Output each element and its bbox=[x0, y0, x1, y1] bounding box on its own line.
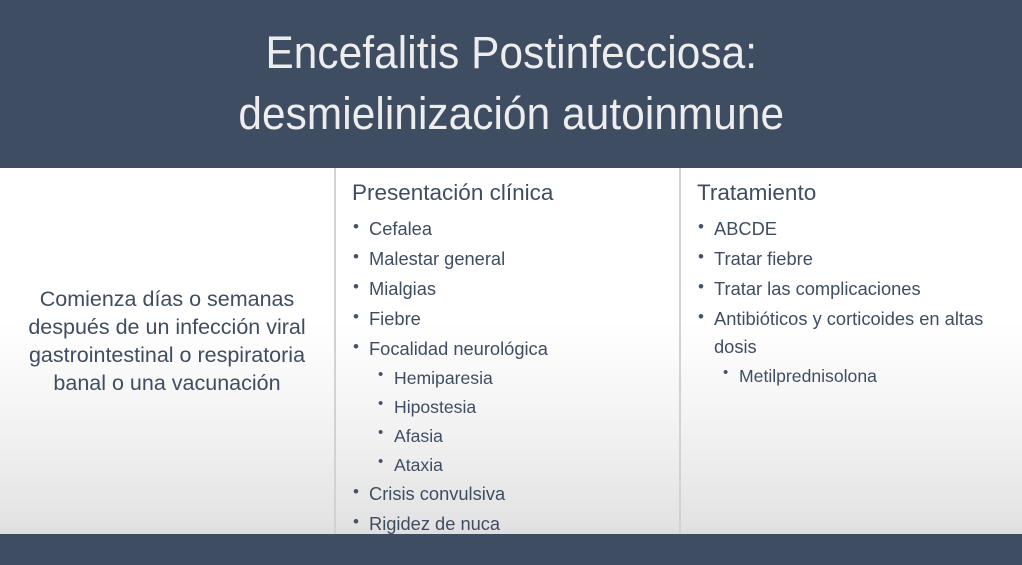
list-item: Focalidad neurológica bbox=[350, 335, 669, 363]
list-item-sub: Afasia bbox=[350, 423, 669, 450]
list-item-sub: Ataxia bbox=[350, 452, 669, 479]
list-item: Tratar fiebre bbox=[695, 245, 1016, 273]
column-heading-treatment: Tratamiento bbox=[695, 180, 1016, 206]
list-item: Fiebre bbox=[350, 305, 669, 333]
list-item: Cefalea bbox=[350, 215, 669, 243]
list-item-sub: Metilprednisolona bbox=[695, 363, 1016, 390]
treatment-list: ABCDETratar fiebreTratar las complicacio… bbox=[695, 215, 1016, 390]
column-intro: Comienza días o semanas después de un in… bbox=[0, 168, 334, 534]
intro-paragraph: Comienza días o semanas después de un in… bbox=[12, 286, 322, 398]
list-item: ABCDE bbox=[695, 215, 1016, 243]
list-item-sub: Hemiparesia bbox=[350, 365, 669, 392]
content-band: Comienza días o semanas después de un in… bbox=[0, 168, 1022, 534]
list-item-sub: Hipostesia bbox=[350, 394, 669, 421]
list-item: Crisis convulsiva bbox=[350, 480, 669, 508]
list-item: Mialgias bbox=[350, 275, 669, 303]
column-treatment: Tratamiento ABCDETratar fiebreTratar las… bbox=[679, 168, 1022, 534]
column-clinical-presentation: Presentación clínica CefaleaMalestar gen… bbox=[334, 168, 679, 534]
title-banner: Encefalitis Postinfecciosa: desmieliniza… bbox=[0, 0, 1022, 168]
list-item: Tratar las complicaciones bbox=[695, 275, 1016, 303]
column-heading-clinical-presentation: Presentación clínica bbox=[350, 180, 669, 206]
slide: Encefalitis Postinfecciosa: desmieliniza… bbox=[0, 0, 1022, 565]
list-item: Antibióticos y corticoides en altas dosi… bbox=[695, 305, 1016, 361]
slide-title: Encefalitis Postinfecciosa: desmieliniza… bbox=[238, 23, 784, 145]
list-item: Malestar general bbox=[350, 245, 669, 273]
clinical-presentation-list: CefaleaMalestar generalMialgiasFiebreFoc… bbox=[350, 215, 669, 539]
footer-bar bbox=[0, 534, 1022, 565]
